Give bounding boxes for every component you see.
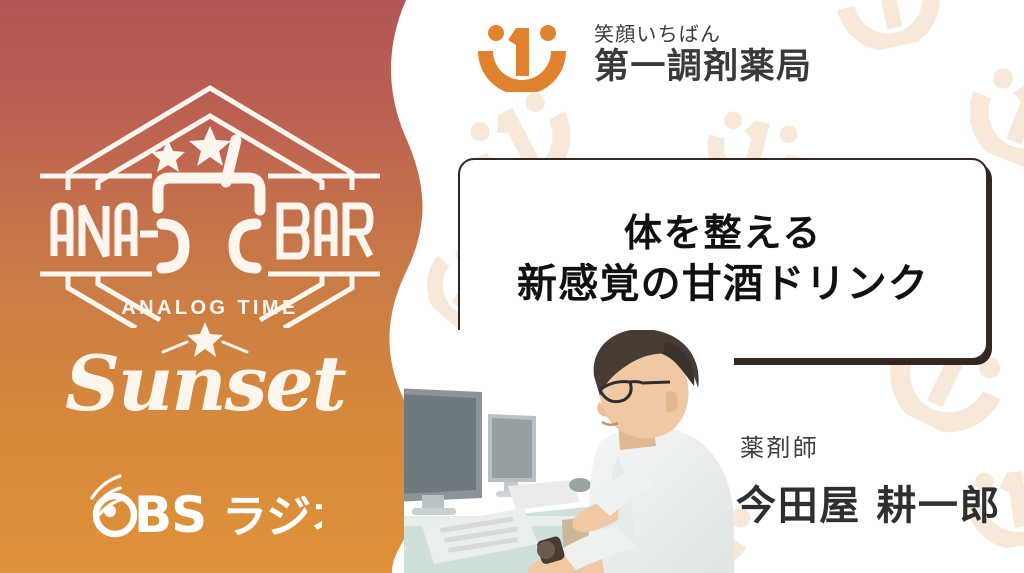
obs-radio-logo: BS ラジオ <box>82 470 322 540</box>
credit-name: 今田屋 耕一郎 <box>736 473 1006 531</box>
headline-line-1: 体を整える <box>517 208 929 258</box>
pharmacist-photo <box>404 330 734 573</box>
smiley-one-icon <box>472 18 572 92</box>
svg-text:ANALOG TIME: ANALOG TIME <box>121 297 298 319</box>
program-branding-panel: ANALOG TIME Sunset <box>0 0 460 573</box>
ana-bar-badge-logo: ANALOG TIME <box>40 78 380 328</box>
headline-text: 体を整える 新感覚の甘酒ドリンク <box>517 208 929 311</box>
smiley-one-watermark-icon <box>822 0 956 59</box>
svg-text:ラジオ: ラジオ <box>222 490 322 540</box>
credit-role: 薬剤師 <box>740 428 1006 463</box>
brand-text-block: 笑顔いちばん 第一調剤薬局 <box>594 23 812 87</box>
pharmacy-brand-lockup: 笑顔いちばん 第一調剤薬局 <box>472 18 812 92</box>
brand-tagline: 笑顔いちばん <box>594 23 812 45</box>
sunset-script-wordmark: Sunset <box>55 318 355 428</box>
brand-name: 第一調剤薬局 <box>594 47 812 87</box>
headline-line-2: 新感覚の甘酒ドリンク <box>517 258 929 311</box>
svg-text:Sunset: Sunset <box>65 339 347 428</box>
broadcast-title-card: ANALOG TIME Sunset <box>0 0 1024 573</box>
svg-text:BS: BS <box>134 486 206 540</box>
pharmacist-credit: 薬剤師 今田屋 耕一郎 <box>736 428 1006 531</box>
